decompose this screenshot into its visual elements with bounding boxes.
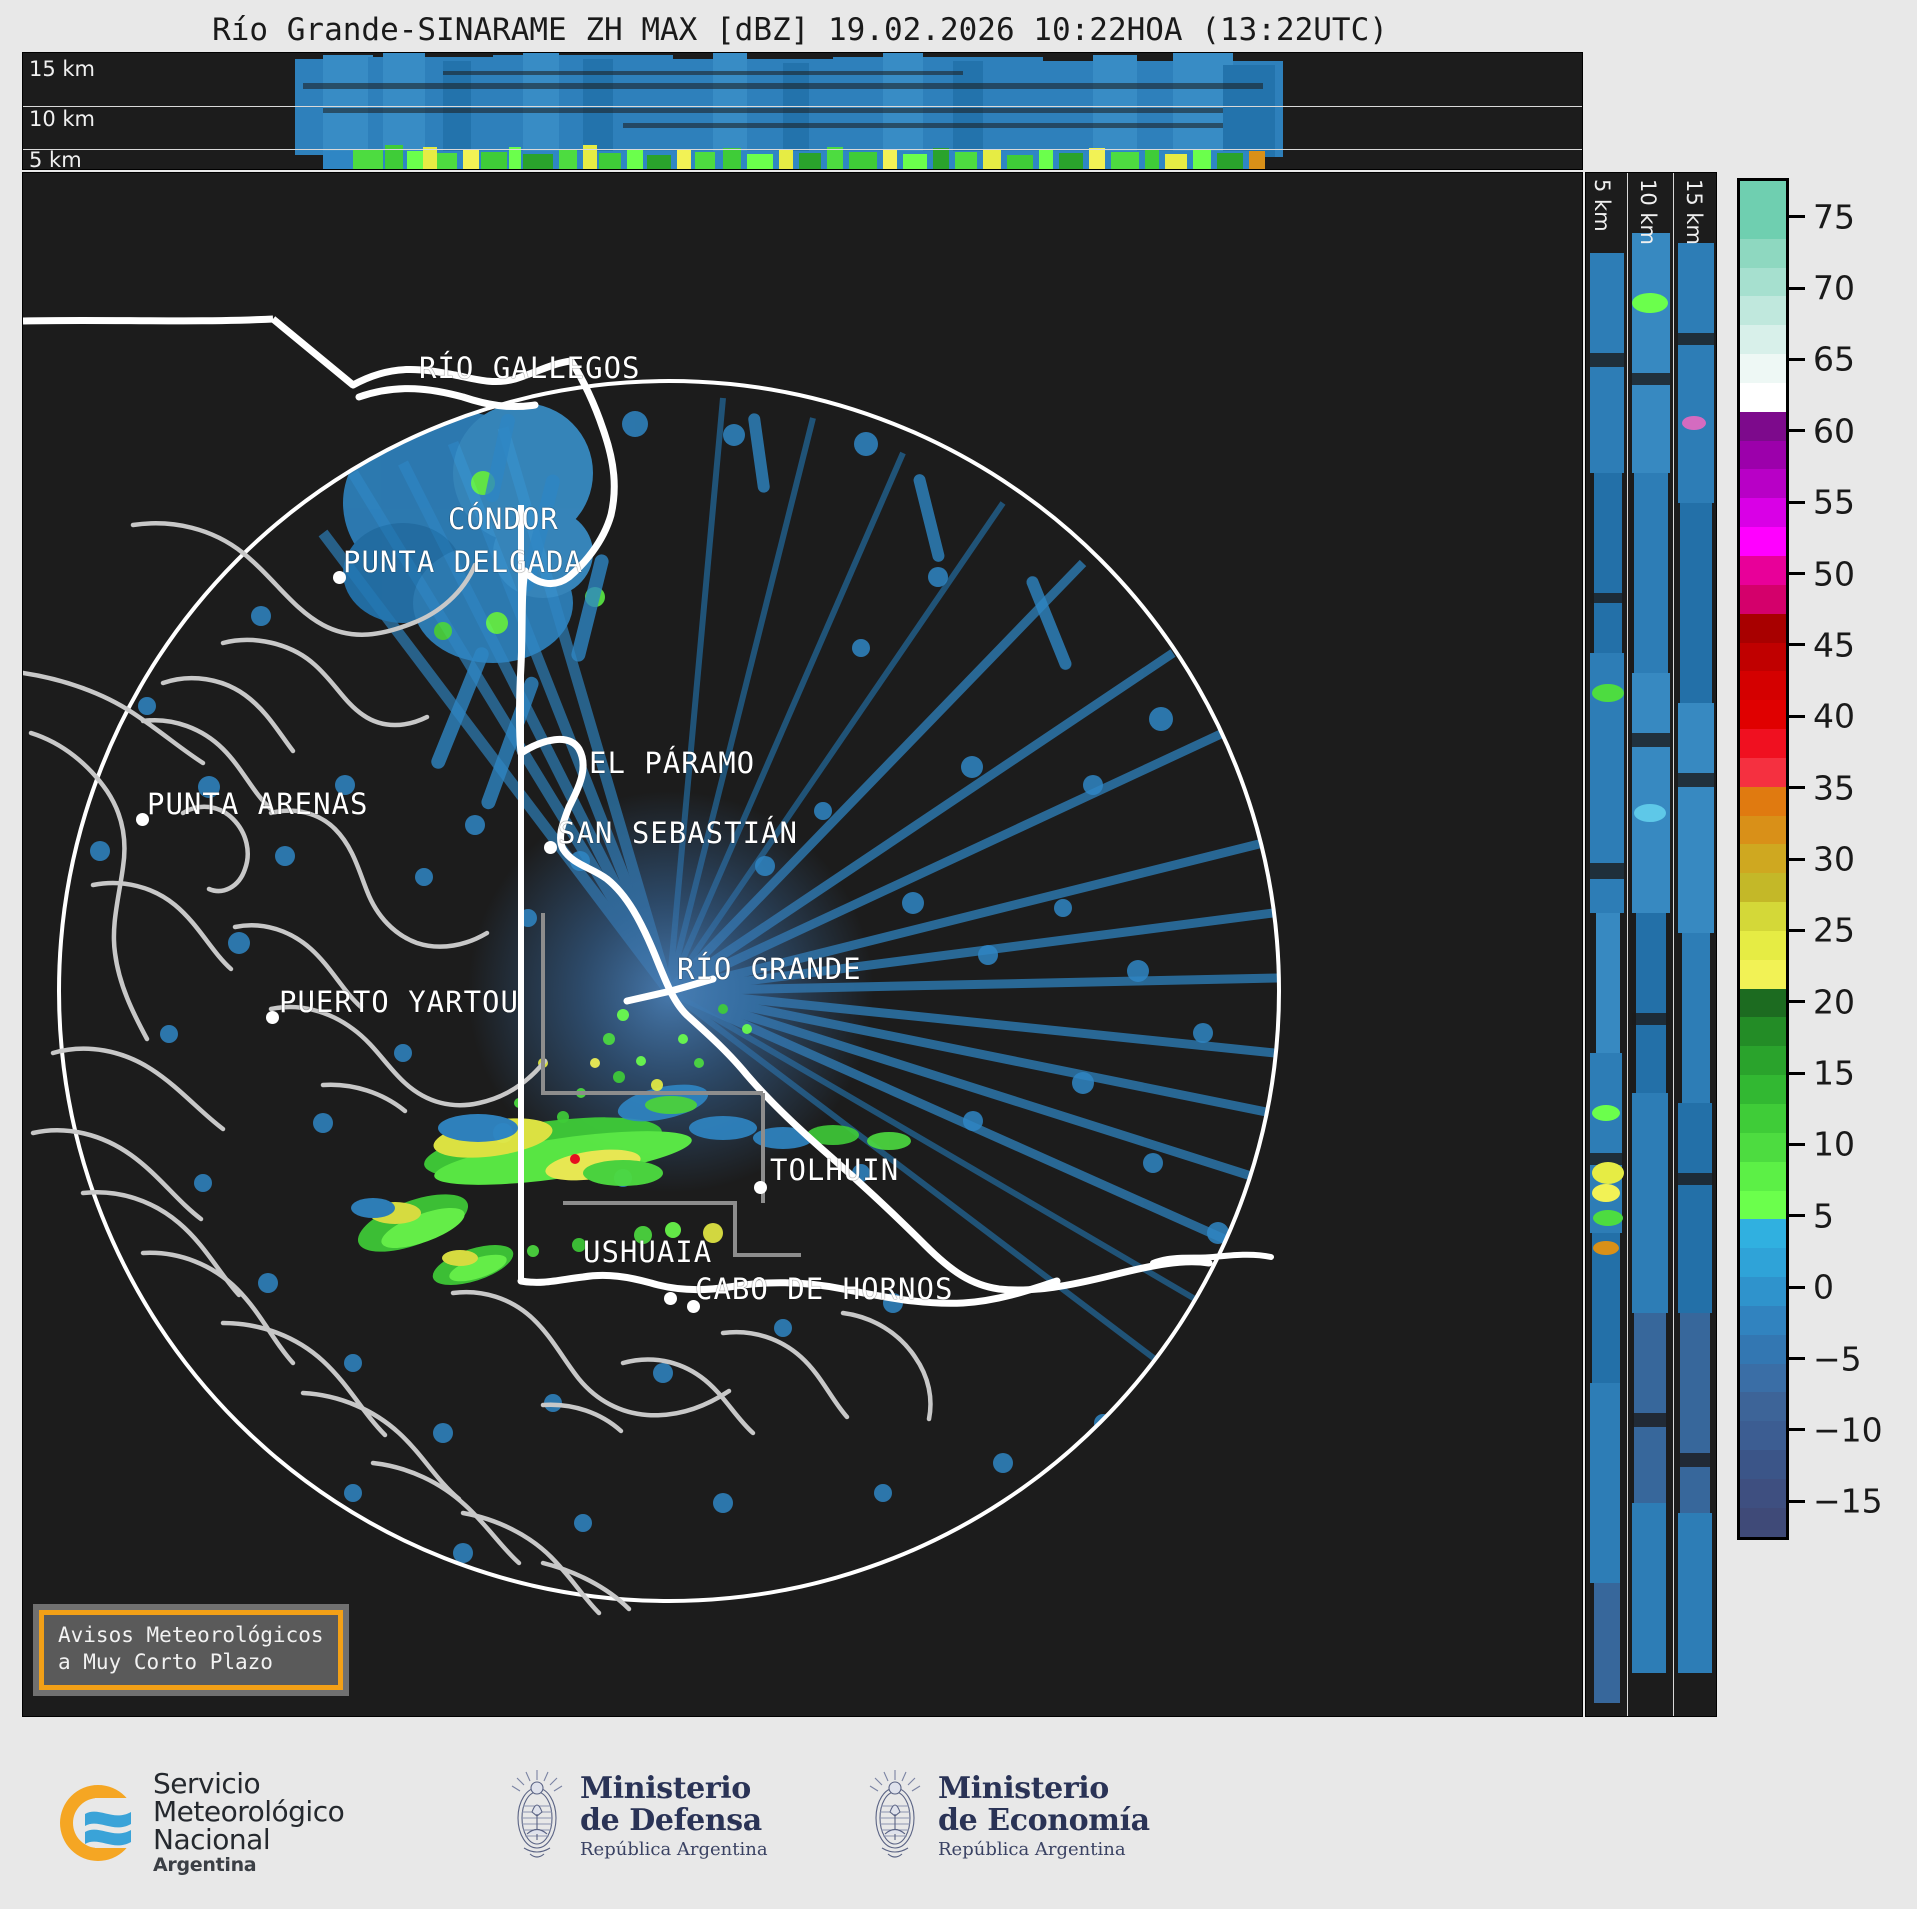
colorbar-tick-label: 55	[1813, 483, 1855, 522]
colorbar-legend[interactable]: 757065605550454035302520151050−5−10−15	[1737, 178, 1789, 1540]
colorbar-segment	[1740, 469, 1786, 498]
top-panel-label-15km: 15 km	[29, 59, 95, 80]
colorbar-tick	[1789, 929, 1805, 932]
colorbar-segment	[1740, 1133, 1786, 1162]
radar-map-panel[interactable]: RÍO GALLEGOS CÓNDOR PUNTA DELGADA EL PÁR…	[22, 172, 1583, 1717]
radar-map-canvas	[23, 173, 1583, 1717]
colorbar-segment	[1740, 1508, 1786, 1537]
colorbar-segment	[1740, 1306, 1786, 1335]
colorbar-tick-label: 25	[1813, 911, 1855, 950]
colorbar-segment	[1740, 643, 1786, 672]
colorbar-tick	[1789, 1500, 1805, 1503]
colorbar-segment	[1740, 787, 1786, 816]
colorbar-tick	[1789, 1072, 1805, 1075]
city-dot-puerto-yartou	[266, 1011, 279, 1024]
avisos-line-2: a Muy Corto Plazo	[58, 1649, 324, 1676]
colorbar-tick-label: 30	[1813, 840, 1855, 879]
top-panel-label-5km: 5 km	[29, 150, 82, 170]
colorbar-tick	[1789, 429, 1805, 432]
economia-line-1: Ministerio	[938, 1773, 1150, 1805]
colorbar-tick	[1789, 287, 1805, 290]
colorbar-segment	[1740, 498, 1786, 527]
colorbar-tick	[1789, 786, 1805, 789]
colorbar-segment	[1740, 1017, 1786, 1046]
colorbar-tick-label: 65	[1813, 340, 1855, 379]
colorbar-segment	[1740, 671, 1786, 700]
top-panel-gridline-10km	[23, 106, 1582, 107]
colorbar-tick	[1789, 1357, 1805, 1360]
colorbar-gradient	[1737, 178, 1789, 1540]
smn-line-1: Servicio	[153, 1770, 344, 1798]
colorbar-tick	[1789, 643, 1805, 646]
colorbar-segment	[1740, 1046, 1786, 1075]
smn-line-4: Argentina	[153, 1856, 344, 1875]
smn-line-2: Meteorológico	[153, 1798, 344, 1826]
smn-logo-icon	[55, 1780, 141, 1866]
ministerio-economia-text: Ministerio de Economía República Argenti…	[938, 1773, 1150, 1859]
colorbar-segment	[1740, 1191, 1786, 1220]
colorbar-tick-label: 15	[1813, 1054, 1855, 1093]
colorbar-tick	[1789, 215, 1805, 218]
colorbar-segment	[1740, 527, 1786, 556]
colorbar-tick-label: 35	[1813, 768, 1855, 807]
colorbar-tick-label: −15	[1813, 1482, 1883, 1521]
colorbar-segment	[1740, 816, 1786, 845]
colorbar-segment	[1740, 989, 1786, 1018]
right-panel-label-5km: 5 km	[1590, 179, 1614, 232]
argentina-coat-of-arms-icon	[508, 1768, 566, 1864]
colorbar-tick-layer: 757065605550454035302520151050−5−10−15	[1789, 178, 1917, 1540]
smn-logo-text: Servicio Meteorológico Nacional Argentin…	[153, 1770, 344, 1875]
colorbar-segment	[1740, 1392, 1786, 1421]
colorbar-segment	[1740, 239, 1786, 268]
right-panel-gridline-b	[1673, 173, 1674, 1716]
colorbar-segment	[1740, 585, 1786, 614]
colorbar-tick	[1789, 1000, 1805, 1003]
colorbar-segment	[1740, 383, 1786, 412]
colorbar-segment	[1740, 412, 1786, 441]
colorbar-segment	[1740, 1479, 1786, 1508]
city-dot-tolhuin	[754, 1181, 767, 1194]
colorbar-tick-label: 75	[1813, 197, 1855, 236]
logo-ministerio-defensa: Ministerio de Defensa República Argentin…	[508, 1768, 768, 1864]
colorbar-segment	[1740, 1104, 1786, 1133]
colorbar-segment	[1740, 931, 1786, 960]
colorbar-segment	[1740, 1075, 1786, 1104]
colorbar-tick-label: 5	[1813, 1196, 1834, 1235]
right-panel-gridline-a	[1627, 173, 1628, 1716]
colorbar-tick-label: 0	[1813, 1268, 1834, 1307]
defensa-line-1: Ministerio	[580, 1773, 768, 1805]
colorbar-segment	[1740, 1450, 1786, 1479]
colorbar-tick	[1789, 1428, 1805, 1431]
colorbar-tick-label: 50	[1813, 554, 1855, 593]
smn-line-3: Nacional	[153, 1826, 344, 1854]
right-cross-section-echoes	[1586, 173, 1717, 1717]
city-dot-punta-arenas	[136, 813, 149, 826]
city-dot-san-sebastian	[544, 841, 557, 854]
colorbar-tick-label: 10	[1813, 1125, 1855, 1164]
top-panel-label-10km: 10 km	[29, 109, 95, 130]
avisos-legend-inner: Avisos Meteorológicos a Muy Corto Plazo	[39, 1610, 343, 1690]
logo-ministerio-economia: Ministerio de Economía República Argenti…	[866, 1768, 1150, 1864]
colorbar-segment	[1740, 325, 1786, 354]
colorbar-segment	[1740, 210, 1786, 239]
colorbar-segment	[1740, 1364, 1786, 1393]
colorbar-tick	[1789, 1214, 1805, 1217]
colorbar-tick	[1789, 858, 1805, 861]
colorbar-segment	[1740, 1162, 1786, 1191]
colorbar-segment	[1740, 1335, 1786, 1364]
economia-line-2: de Economía	[938, 1805, 1150, 1837]
colorbar-segment	[1740, 556, 1786, 585]
colorbar-segment	[1740, 1219, 1786, 1248]
top-panel-gridline-5km	[23, 149, 1582, 150]
colorbar-segment	[1740, 614, 1786, 643]
colorbar-segment	[1740, 844, 1786, 873]
colorbar-segment	[1740, 758, 1786, 787]
top-cross-section-panel: 15 km 10 km 5 km	[22, 52, 1583, 170]
colorbar-tick	[1789, 1143, 1805, 1146]
avisos-line-1: Avisos Meteorológicos	[58, 1622, 324, 1649]
colorbar-tick	[1789, 358, 1805, 361]
right-panel-label-15km: 15 km	[1682, 179, 1706, 245]
city-dot-punta-delgada	[333, 571, 346, 584]
top-cross-section-echoes	[23, 53, 1583, 170]
right-panel-label-10km: 10 km	[1636, 179, 1660, 245]
colorbar-tick	[1789, 1286, 1805, 1289]
colorbar-segment	[1740, 296, 1786, 325]
colorbar-tick-label: 20	[1813, 982, 1855, 1021]
colorbar-tick-label: −10	[1813, 1410, 1883, 1449]
colorbar-segment	[1740, 960, 1786, 989]
colorbar-tick-label: 45	[1813, 625, 1855, 664]
colorbar-segment	[1740, 1421, 1786, 1450]
city-dot-ushuaia	[664, 1292, 677, 1305]
ministerio-defensa-text: Ministerio de Defensa República Argentin…	[580, 1773, 768, 1859]
logo-smn: Servicio Meteorológico Nacional Argentin…	[55, 1770, 344, 1875]
colorbar-segment	[1740, 268, 1786, 297]
page-title: Río Grande-SINARAME ZH MAX [dBZ] 19.02.2…	[0, 12, 1600, 48]
city-dot-cabo-de-hornos	[687, 1300, 700, 1313]
colorbar-segment	[1740, 873, 1786, 902]
colorbar-tick	[1789, 501, 1805, 504]
colorbar-segment	[1740, 1248, 1786, 1277]
colorbar-segment	[1740, 729, 1786, 758]
colorbar-tick	[1789, 572, 1805, 575]
colorbar-segment	[1740, 1277, 1786, 1306]
defensa-line-2: de Defensa	[580, 1805, 768, 1837]
colorbar-tick-label: 40	[1813, 697, 1855, 736]
colorbar-tick-label: 70	[1813, 269, 1855, 308]
colorbar-segment	[1740, 354, 1786, 383]
defensa-line-3: República Argentina	[580, 1840, 768, 1859]
right-cross-section-panel: 5 km 10 km 15 km	[1585, 172, 1717, 1717]
economia-line-3: República Argentina	[938, 1840, 1150, 1859]
colorbar-tick	[1789, 715, 1805, 718]
colorbar-segment	[1740, 902, 1786, 931]
colorbar-segment	[1740, 441, 1786, 470]
footer-logo-bar: Servicio Meteorológico Nacional Argentin…	[0, 1740, 1917, 1909]
argentina-coat-of-arms-icon	[866, 1768, 924, 1864]
coastline-north-west	[23, 319, 273, 321]
colorbar-segment	[1740, 181, 1786, 210]
colorbar-tick-label: 60	[1813, 411, 1855, 450]
colorbar-tick-label: −5	[1813, 1339, 1862, 1378]
avisos-legend-box[interactable]: Avisos Meteorológicos a Muy Corto Plazo	[33, 1604, 349, 1696]
colorbar-segment	[1740, 700, 1786, 729]
